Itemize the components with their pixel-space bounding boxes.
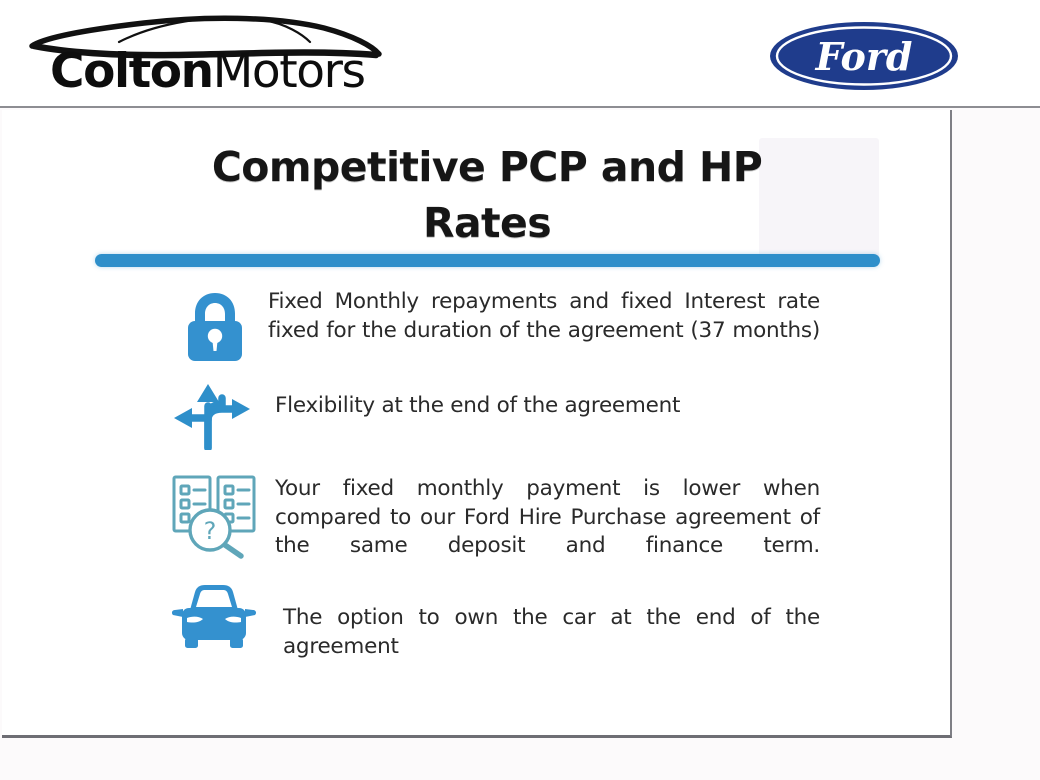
padlock-icon bbox=[182, 288, 248, 364]
page-title-line-2: Rates bbox=[423, 199, 551, 247]
title-underline-rule bbox=[95, 254, 880, 267]
document-comparison-magnifier-icon: ? bbox=[168, 468, 260, 560]
page-header: ColtonMotors Ford bbox=[0, 0, 1040, 108]
page-title: Competitive PCP and HP Rates bbox=[92, 140, 882, 252]
feature-text-flexibility: Flexibility at the end of the agreement bbox=[275, 392, 827, 421]
ford-script-text: Ford bbox=[815, 34, 913, 79]
ford-oval-logo[interactable]: Ford bbox=[768, 20, 960, 92]
feature-text-fixed-repayments: Fixed Monthly repayments and fixed Inter… bbox=[268, 288, 820, 374]
three-way-arrows-icon bbox=[172, 382, 252, 450]
feature-text-lower-payment: Your fixed monthly payment is lower when… bbox=[275, 475, 820, 589]
page-title-line-1: Competitive PCP and HP bbox=[212, 143, 762, 191]
car-front-icon bbox=[170, 580, 258, 654]
brand-wordmark: ColtonMotors bbox=[50, 48, 365, 95]
feature-text-own-car: The option to own the car at the end of … bbox=[283, 604, 820, 690]
slide-card: Competitive PCP and HP Rates Fixed Month… bbox=[2, 110, 952, 738]
brand-name-bold: Colton bbox=[50, 44, 213, 99]
colton-motors-logo[interactable]: ColtonMotors bbox=[24, 6, 384, 102]
svg-text:?: ? bbox=[204, 517, 217, 545]
brand-name-light: Motors bbox=[213, 44, 365, 99]
